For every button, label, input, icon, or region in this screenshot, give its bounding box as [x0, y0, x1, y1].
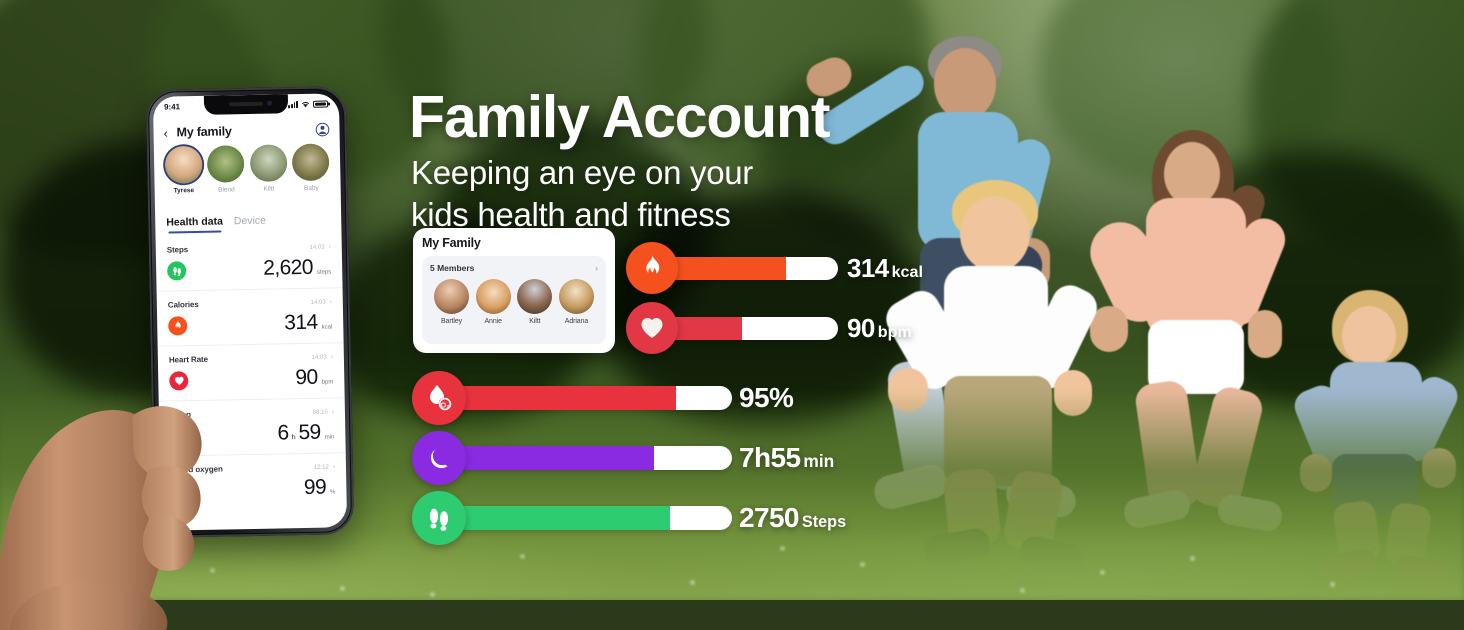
row-unit: min	[325, 434, 335, 440]
row-timestamp: 14:03	[311, 299, 326, 305]
member-cell[interactable]: Annie	[473, 279, 514, 325]
family-member-name: Blend	[205, 186, 248, 194]
row-unit: bpm	[322, 379, 334, 385]
wifi-icon	[301, 100, 310, 107]
row-body: 99 %	[171, 476, 335, 500]
row-header: Blood oxygen 12:12 ›	[171, 462, 335, 474]
row-unit: %	[330, 489, 335, 495]
members-count-label: 5 Members	[430, 263, 474, 273]
my-family-card-title: My Family	[422, 236, 606, 250]
list-item[interactable]: Heart Rate 14:03 › 90 bpm	[158, 343, 345, 402]
row-number-secondary: 59	[298, 422, 321, 443]
chevron-right-icon[interactable]: ›	[595, 264, 598, 273]
footsteps-glyph	[427, 505, 451, 531]
subtitle-line-1: Keeping an eye on your	[411, 152, 753, 194]
battery-icon	[313, 100, 328, 107]
family-member[interactable]: Blend	[204, 145, 247, 194]
nav-title: My family	[176, 124, 231, 139]
blood-oxygen-progress-track[interactable]	[452, 386, 732, 410]
member-name: Annie	[473, 318, 514, 325]
chevron-right-icon[interactable]: ›	[331, 353, 333, 360]
family-member[interactable]: Baby	[289, 143, 332, 192]
steps-unit: Steps	[802, 513, 846, 531]
blood-oxygen-icon	[171, 481, 190, 500]
status-time: 9:41	[164, 102, 180, 111]
my-family-card[interactable]: My Family 5 Members › Bartley Annie Kilt…	[413, 228, 615, 353]
list-item[interactable]: Steps 14:03 › 2,620 steps	[156, 233, 343, 292]
list-item[interactable]: Sleep 08:15 › 6 h 59 min	[159, 398, 346, 457]
moon-icon	[170, 426, 189, 445]
member-name: Bartley	[431, 318, 472, 325]
avatar[interactable]	[250, 144, 288, 182]
avatar[interactable]	[165, 146, 203, 184]
steps-number: 2750	[739, 502, 799, 533]
steps-progress-fill	[452, 506, 670, 530]
tab-health-data[interactable]: Health data	[166, 216, 223, 229]
sleep-number: 7h55	[739, 442, 800, 473]
row-value: 6 h 59 min	[277, 421, 334, 443]
members-avatar-row: Bartley Annie Kiltt Adriana	[430, 279, 598, 325]
blood-oxygen-icon: O₂	[412, 371, 466, 425]
members-header[interactable]: 5 Members ›	[430, 263, 598, 273]
sleep-unit: min	[803, 451, 834, 471]
row-number-separator: h	[292, 434, 296, 441]
row-label: Steps	[167, 245, 188, 254]
sleep-progress-track[interactable]	[452, 446, 732, 470]
metric-heart-rate[interactable]: 90bpm	[626, 302, 912, 354]
row-number: 99	[304, 477, 327, 498]
member-cell[interactable]: Kiltt	[514, 279, 555, 325]
phone-nav-bar: ‹ My family	[153, 116, 339, 146]
family-member[interactable]: Kiltt	[247, 144, 290, 193]
row-timestamp: 14:03	[312, 354, 327, 360]
row-body: 314 kcal	[168, 311, 332, 335]
calories-progress-track[interactable]	[664, 257, 838, 280]
row-header: Steps 14:03 ›	[167, 242, 331, 254]
chevron-right-icon[interactable]: ›	[329, 243, 331, 250]
signal-icon	[288, 101, 298, 108]
member-cell[interactable]: Adriana	[556, 279, 597, 325]
calories-unit: kcal	[892, 263, 923, 281]
calories-value: 314kcal	[847, 253, 923, 284]
phone-tabs: Health data Device	[166, 215, 266, 229]
steps-value: 2750Steps	[739, 502, 846, 534]
metric-steps[interactable]: 2750Steps	[412, 491, 846, 545]
avatar[interactable]	[292, 143, 330, 181]
flame-icon	[626, 242, 678, 294]
avatar[interactable]	[559, 279, 594, 314]
row-timestamp: 12:12	[314, 464, 329, 470]
steps-progress-track[interactable]	[452, 506, 732, 530]
row-label: Sleep	[170, 410, 191, 419]
heart-rate-progress-track[interactable]	[664, 317, 838, 340]
blood-oxygen-value: 95%	[739, 382, 793, 414]
list-item[interactable]: Blood oxygen 12:12 › 99 %	[160, 453, 347, 511]
row-value: 99 %	[304, 476, 336, 498]
row-header: Calories 14:03 ›	[168, 297, 332, 309]
status-indicators	[288, 100, 328, 108]
metric-sleep[interactable]: 7h55min	[412, 431, 834, 485]
footsteps-icon	[412, 491, 466, 545]
metric-blood-oxygen[interactable]: O₂ 95%	[412, 371, 793, 425]
row-header: Heart Rate 14:03 ›	[169, 352, 333, 364]
avatar[interactable]	[476, 279, 511, 314]
family-member-name: Baby	[290, 184, 333, 192]
family-member[interactable]: Tyrese	[162, 146, 205, 195]
row-value: 2,620 steps	[263, 256, 331, 278]
moon-glyph	[428, 446, 451, 471]
chevron-right-icon[interactable]: ›	[332, 408, 334, 415]
flame-glyph	[641, 255, 663, 281]
family-member-name: Kiltt	[248, 185, 291, 193]
account-icon[interactable]	[315, 122, 329, 136]
heart-icon	[626, 302, 678, 354]
moon-icon	[412, 431, 466, 485]
back-icon[interactable]: ‹	[163, 125, 176, 140]
member-name: Adriana	[556, 318, 597, 325]
row-label: Heart Rate	[169, 355, 208, 365]
member-cell[interactable]: Bartley	[431, 279, 472, 325]
row-body: 6 h 59 min	[170, 421, 334, 445]
chevron-right-icon[interactable]: ›	[333, 463, 335, 470]
blood-oxygen-number: 95%	[739, 382, 793, 413]
row-number: 314	[284, 312, 318, 334]
row-value: 90 bpm	[295, 366, 333, 388]
row-value: 314 kcal	[284, 311, 332, 333]
phone-mockup: 9:41 ‹ My family Tyrese Blend	[146, 86, 355, 538]
calories-progress-fill	[664, 257, 786, 280]
heart-rate-value: 90bpm	[847, 313, 912, 344]
family-member-strip: Tyrese Blend Kiltt Baby	[154, 143, 341, 195]
blood-drop-glyph: O₂	[426, 384, 452, 412]
row-body: 90 bpm	[169, 366, 333, 390]
family-member-name: Tyrese	[163, 187, 206, 195]
calories-number: 314	[847, 253, 889, 283]
flame-icon	[168, 316, 187, 335]
row-body: 2,620 steps	[167, 256, 331, 280]
chevron-right-icon[interactable]: ›	[330, 298, 332, 305]
svg-text:O₂: O₂	[440, 400, 449, 409]
list-item[interactable]: Calories 14:03 › 314 kcal	[157, 288, 344, 347]
row-number: 2,620	[263, 257, 313, 279]
row-label: Blood oxygen	[171, 465, 223, 475]
account-glyph	[315, 122, 329, 136]
member-name: Kiltt	[514, 318, 555, 325]
phone-screen[interactable]: 9:41 ‹ My family Tyrese Blend	[153, 93, 347, 530]
health-data-list: Steps 14:03 › 2,620 steps Calories	[156, 233, 348, 531]
row-number: 6	[277, 422, 288, 443]
footsteps-icon	[167, 261, 186, 280]
tab-device[interactable]: Device	[234, 215, 266, 228]
heart-glyph	[640, 317, 664, 339]
row-label: Calories	[168, 300, 199, 310]
row-timestamp: 14:03	[310, 244, 325, 250]
avatar[interactable]	[517, 279, 552, 314]
heart-rate-unit: bpm	[878, 323, 912, 341]
sleep-value: 7h55min	[739, 442, 834, 474]
heart-icon	[169, 371, 188, 390]
heart-rate-number: 90	[847, 313, 875, 343]
row-unit: kcal	[322, 324, 333, 330]
avatar[interactable]	[207, 145, 245, 183]
blood-oxygen-progress-fill	[452, 386, 676, 410]
page-title: Family Account	[409, 86, 829, 149]
status-bar: 9:41	[153, 93, 339, 117]
my-family-members-panel[interactable]: 5 Members › Bartley Annie Kiltt Adriana	[422, 256, 606, 344]
sleep-progress-fill	[452, 446, 654, 470]
avatar[interactable]	[434, 279, 469, 314]
row-header: Sleep 08:15 ›	[170, 407, 334, 419]
row-number: 90	[295, 367, 318, 388]
page-subtitle: Keeping an eye on your kids health and f…	[411, 152, 753, 235]
metric-calories[interactable]: 314kcal	[626, 242, 923, 294]
row-timestamp: 08:15	[313, 409, 328, 415]
row-unit: steps	[317, 269, 331, 275]
